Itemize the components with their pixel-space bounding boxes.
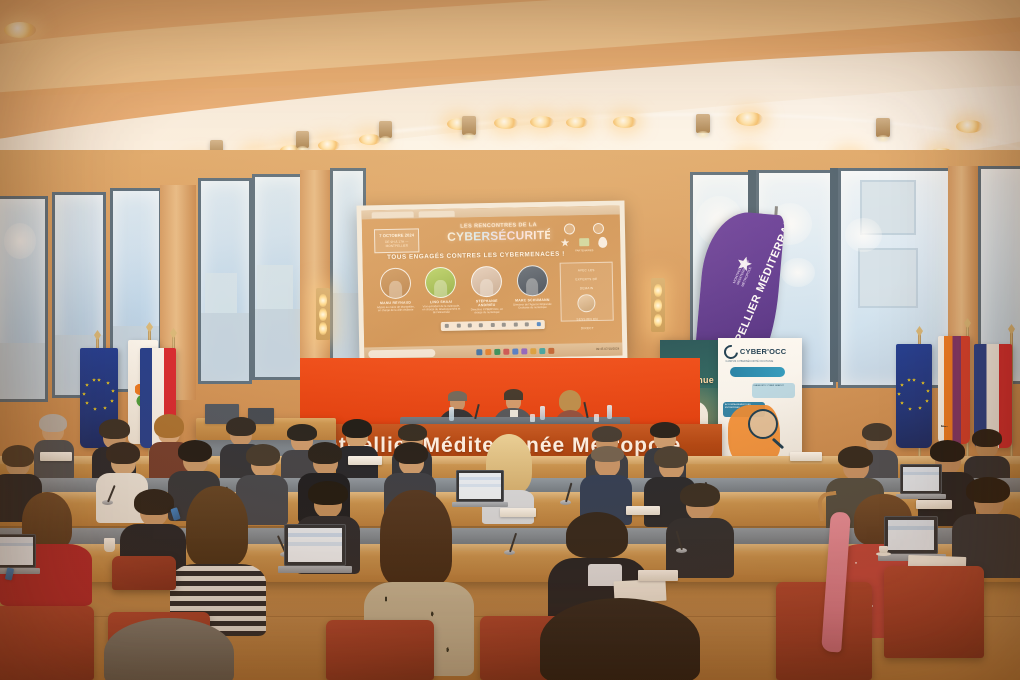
name-plate <box>790 452 822 461</box>
wall-sconce <box>316 288 330 340</box>
conference-room-photo: 7 OCTOBRE 2024 DE 9H À 17H — MONTPELLIER… <box>0 0 1020 680</box>
track-lamp <box>696 114 710 133</box>
side-card-line4: SESSION EN <box>561 317 613 322</box>
ceiling-spotlight <box>613 116 637 128</box>
speaker-role: Directrice CYBER'OCC, en charge du numér… <box>468 307 507 314</box>
slide-title-line2: CYBERSÉCURITÉ <box>447 228 550 244</box>
speaker-name: MANU REYNAUD <box>376 300 415 305</box>
slide-date-line1: 7 OCTOBRE 2024 <box>375 233 419 239</box>
speaker-name: STÉPHANIE ANDRIEU <box>467 298 506 307</box>
toolbar-pages-icon[interactable] <box>445 324 449 328</box>
occitanie-flag-emblem <box>941 399 954 427</box>
chair[interactable] <box>884 566 984 658</box>
umbrella-handle[interactable] <box>816 491 840 522</box>
water-bottle <box>540 406 545 420</box>
sponsor-star-icon <box>560 238 569 247</box>
side-card-line2: EXPERTS DE <box>561 277 613 282</box>
side-card-avatar <box>578 294 596 312</box>
cyberocc-tagline: CAMPUS CYBERSÉCURITÉ OCCITANIE <box>726 360 795 363</box>
taskbar-icon[interactable] <box>477 349 483 355</box>
sponsor-pin-icon <box>599 236 608 247</box>
taskbar-icon[interactable] <box>495 348 501 354</box>
name-plate <box>40 452 72 461</box>
taskbar-icon[interactable] <box>540 347 546 353</box>
water-bottle <box>449 407 454 421</box>
track-lamp <box>462 116 476 135</box>
water-glass <box>594 414 599 422</box>
speaker-role: Vice-président de la métropole, en charg… <box>422 304 461 315</box>
slide-date-badge: 7 OCTOBRE 2024 DE 9H À 17H — MONTPELLIER <box>374 229 420 254</box>
taskbar-icon[interactable] <box>504 348 510 354</box>
paper-cup <box>104 538 115 552</box>
ceiling-spotlight <box>736 112 763 126</box>
presentation-slide: 7 OCTOBRE 2024 DE 9H À 17H — MONTPELLIER… <box>362 215 622 348</box>
sponsor-circle-icon <box>592 223 603 234</box>
slide-speaker: MANU REYNAUD Adjoint au maire de Montpel… <box>376 267 416 316</box>
flag-occitanie <box>938 336 970 444</box>
slide-title: LES RENCONTRES DE LA CYBERSÉCURITÉ <box>447 222 551 244</box>
sponsor-circle-icon <box>564 223 575 234</box>
track-lamp <box>876 118 890 137</box>
chair[interactable] <box>112 556 176 590</box>
magnifier-icon <box>748 409 778 439</box>
ceiling-spotlight <box>530 116 554 128</box>
speaker-role: Adjoint au maire de Montpellier, en char… <box>376 305 415 312</box>
taskbar-search-box[interactable] <box>368 349 435 358</box>
window <box>0 196 48 402</box>
feather-banner-subtitle: MONTPELLIER MÉDITERRANÉE MÉTROPOLE <box>732 245 760 287</box>
cyberocc-contact-pill <box>730 367 785 377</box>
side-card-line1: AVEC LES <box>560 268 612 273</box>
taskbar-icon[interactable] <box>549 347 555 353</box>
name-plate <box>916 500 952 509</box>
name-plate <box>500 508 536 517</box>
speaker-avatar <box>471 265 503 297</box>
taskbar-icon[interactable] <box>486 349 492 355</box>
water-glass <box>530 414 535 422</box>
slide-speaker: STÉPHANIE ANDRIEU Directrice CYBER'OCC, … <box>467 265 507 314</box>
cyberocc-ring-icon <box>721 342 741 362</box>
toolbar-print-icon[interactable] <box>514 323 518 327</box>
side-card-line5: DIRECT <box>562 326 614 331</box>
slide-side-card: AVEC LES EXPERTS DE DEMAIN SESSION EN DI… <box>559 262 614 321</box>
track-lamp <box>296 131 309 148</box>
pdf-toolbar[interactable] <box>441 320 544 331</box>
toolbar-pen-icon[interactable] <box>502 323 506 327</box>
speaker-avatar <box>516 265 548 297</box>
speaker-name: LINO SHAAI <box>422 299 461 304</box>
cyberocc-logo: CYBER'OCC <box>724 345 787 359</box>
ceiling-spotlight <box>566 117 588 128</box>
toolbar-download-icon[interactable] <box>525 322 529 326</box>
flag-eu-right <box>896 344 932 448</box>
toolbar-zoom-out-icon[interactable] <box>468 324 472 328</box>
speaker-avatar <box>425 266 457 298</box>
track-lamp <box>379 121 392 138</box>
toolbar-zoom-in-icon[interactable] <box>479 323 483 327</box>
name-plate <box>638 570 678 581</box>
name-plate <box>348 456 382 465</box>
toolbar-grid-icon[interactable] <box>456 324 460 328</box>
speaker-name: MARC SCHUMANN <box>513 297 552 302</box>
window-mullion <box>830 168 838 382</box>
taskbar-clock: 09:45 07/10/2024 <box>596 347 619 351</box>
ceiling-spotlight <box>494 117 518 129</box>
coffee-cup <box>879 546 888 553</box>
cyberocc-bubble: DIAGNOSTIC CYBER GRATUIT <box>752 383 796 398</box>
sponsor-logo-row: PARTENAIRES <box>555 222 612 252</box>
cyberocc-brand: CYBER'OCC <box>740 347 787 356</box>
name-plate <box>626 506 660 515</box>
slide-speaker-list: MANU REYNAUD Adjoint au maire de Montpel… <box>376 264 552 316</box>
ceiling-spotlight <box>956 120 983 133</box>
chair[interactable] <box>326 620 434 680</box>
taskbar-icon[interactable] <box>513 348 519 354</box>
taskbar-app-icons[interactable] <box>435 347 596 356</box>
toolbar-rotate-icon[interactable] <box>491 323 495 327</box>
slide-speaker: MARC SCHUMANN Directeur de l'Agence Régi… <box>512 264 552 313</box>
speaker-avatar <box>379 267 411 299</box>
sponsor-block-icon <box>579 238 589 246</box>
side-card-line3: DEMAIN <box>561 286 613 291</box>
wall-sconce <box>651 278 665 332</box>
water-bottle <box>607 405 612 419</box>
speaker-role: Directeur de l'Agence Régionale Occitani… <box>513 302 552 309</box>
slide-date-line2: DE 9H À 17H — MONTPELLIER <box>375 240 419 249</box>
projection-screen: 7 OCTOBRE 2024 DE 9H À 17H — MONTPELLIER… <box>356 200 627 365</box>
chair[interactable] <box>0 606 94 680</box>
window <box>198 178 252 384</box>
slide-speaker: LINO SHAAI Vice-président de la métropol… <box>421 266 461 315</box>
taskbar-icon[interactable] <box>531 348 537 354</box>
toolbar-fullscreen-icon[interactable] <box>536 322 540 326</box>
ceiling-spotlight <box>4 22 36 38</box>
taskbar-icon[interactable] <box>522 348 528 354</box>
ceiling-spotlight <box>359 134 381 145</box>
window <box>838 168 952 388</box>
